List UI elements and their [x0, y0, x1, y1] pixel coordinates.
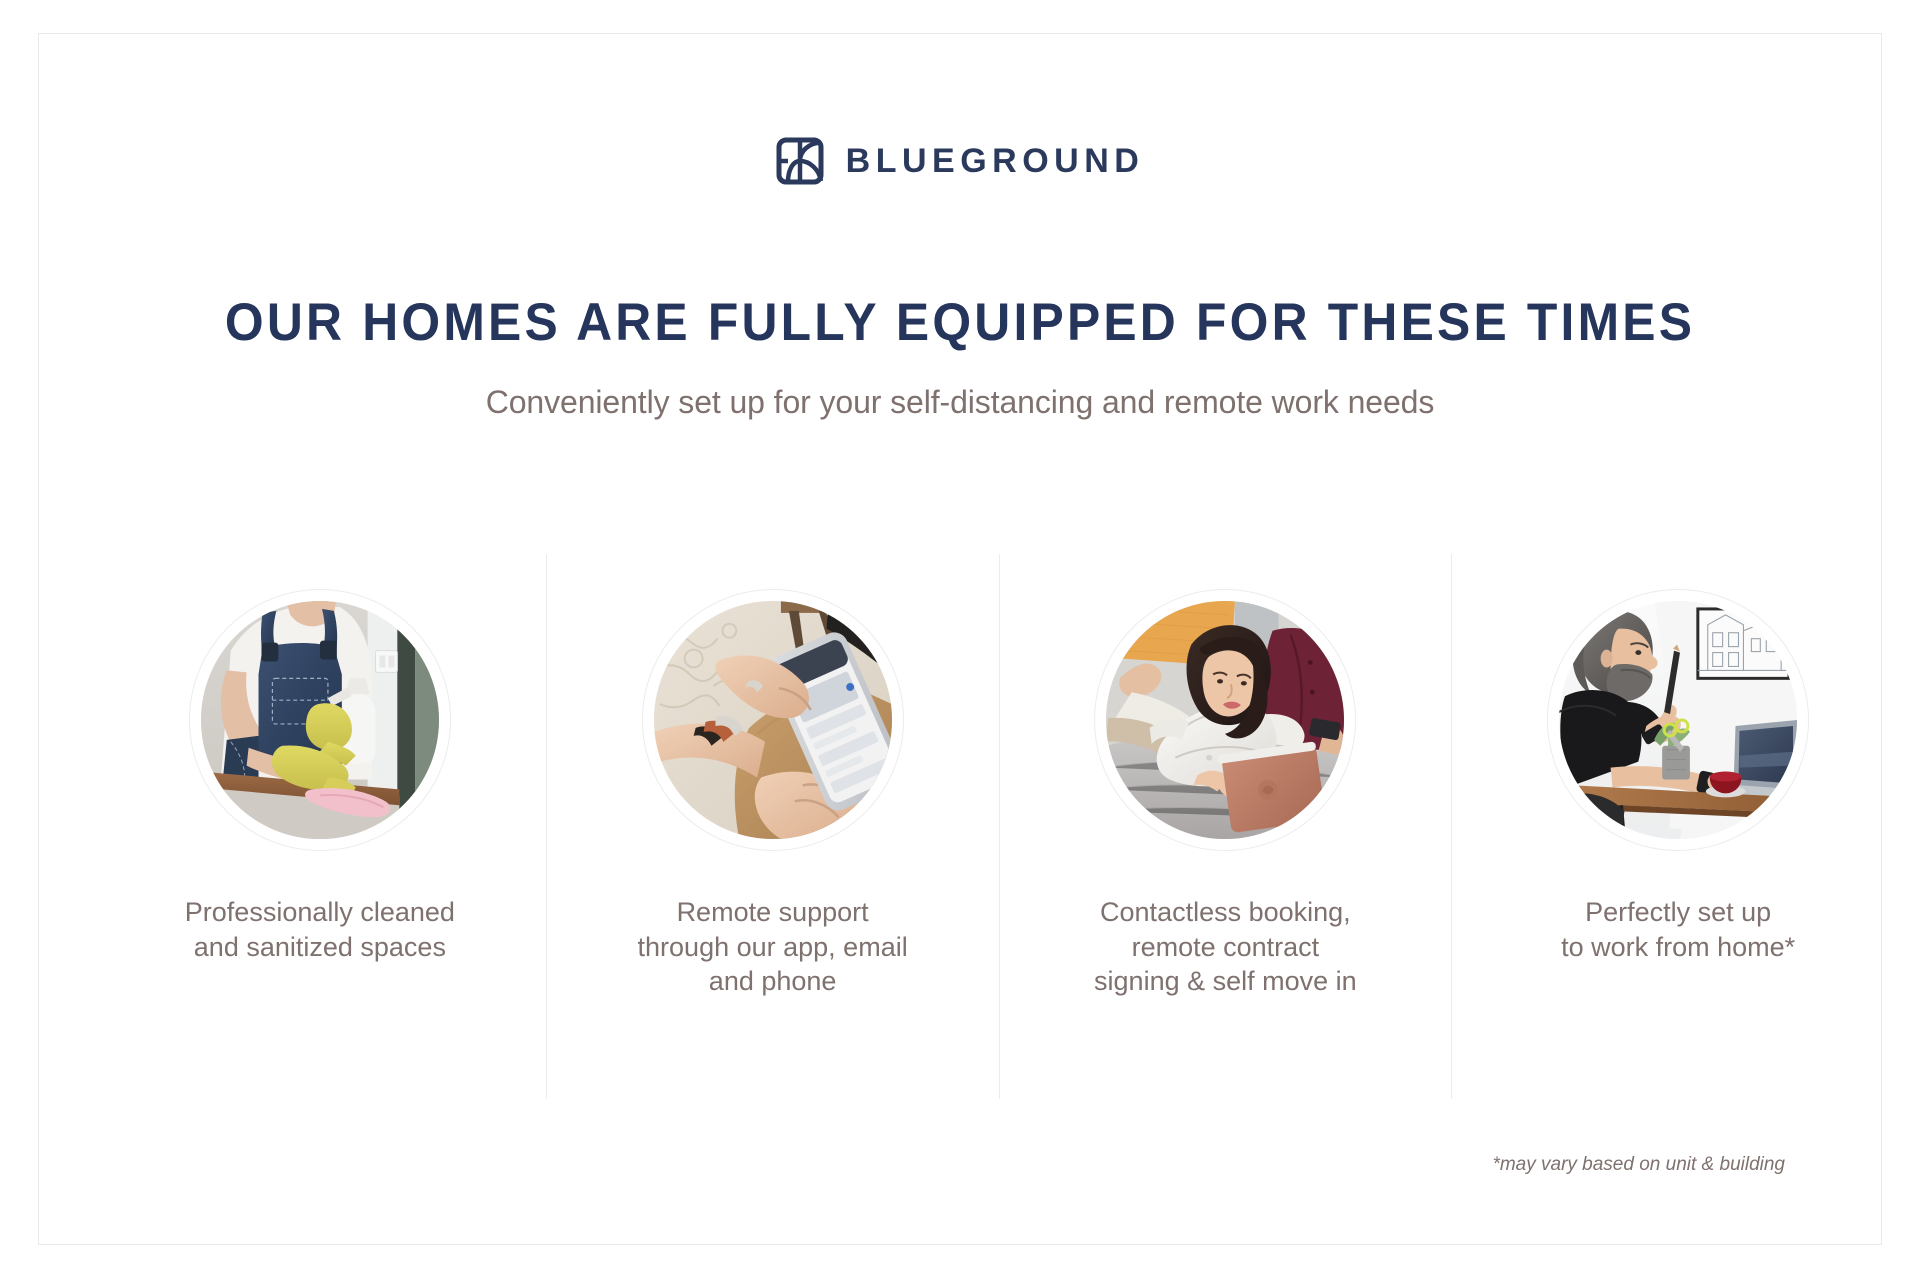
feature-caption: Remote support through our app, email an… — [638, 895, 908, 999]
feature-column-work-from-home: Perfectly set up to work from home* — [1451, 554, 1904, 1099]
cleaning-photo — [201, 601, 439, 839]
page-subtitle: Conveniently set up for your self-distan… — [39, 384, 1881, 421]
feature-column-remote-support: Remote support through our app, email an… — [546, 554, 999, 1099]
blueground-square-icon — [776, 137, 824, 185]
contactless-booking-photo — [1106, 601, 1344, 839]
caption-line: remote contract — [1094, 930, 1357, 965]
work-from-home-photo-ring — [1547, 589, 1809, 851]
brand-name: BLUEGROUND — [846, 144, 1145, 178]
caption-line: and sanitized spaces — [185, 930, 455, 965]
caption-line: Perfectly set up — [1561, 895, 1795, 930]
caption-line: Remote support — [638, 895, 908, 930]
feature-caption: Perfectly set up to work from home* — [1561, 895, 1795, 964]
brand-logo: BLUEGROUND — [39, 137, 1881, 185]
footnote: *may vary based on unit & building — [39, 1154, 1883, 1176]
caption-line: signing & self move in — [1094, 964, 1357, 999]
poster-frame: BLUEGROUND OUR HOMES ARE FULLY EQUIPPED … — [38, 33, 1882, 1245]
feature-caption: Contactless booking, remote contract sig… — [1094, 895, 1357, 999]
caption-line: and phone — [638, 964, 908, 999]
feature-column-cleaning: Professionally cleaned and sanitized spa… — [94, 554, 546, 1099]
phone-support-photo-ring — [642, 589, 904, 851]
caption-line: to work from home* — [1561, 930, 1795, 965]
caption-line: Contactless booking, — [1094, 895, 1357, 930]
feature-columns: Professionally cleaned and sanitized spa… — [94, 554, 1904, 1099]
page-title: OUR HOMES ARE FULLY EQUIPPED FOR THESE T… — [94, 292, 1825, 353]
feature-column-contactless-booking: Contactless booking, remote contract sig… — [999, 554, 1452, 1099]
caption-line: through our app, email — [638, 930, 908, 965]
contactless-booking-photo-ring — [1094, 589, 1356, 851]
feature-caption: Professionally cleaned and sanitized spa… — [185, 895, 455, 964]
work-from-home-photo — [1559, 601, 1797, 839]
cleaning-photo-ring — [189, 589, 451, 851]
phone-support-photo — [654, 601, 892, 839]
caption-line: Professionally cleaned — [185, 895, 455, 930]
